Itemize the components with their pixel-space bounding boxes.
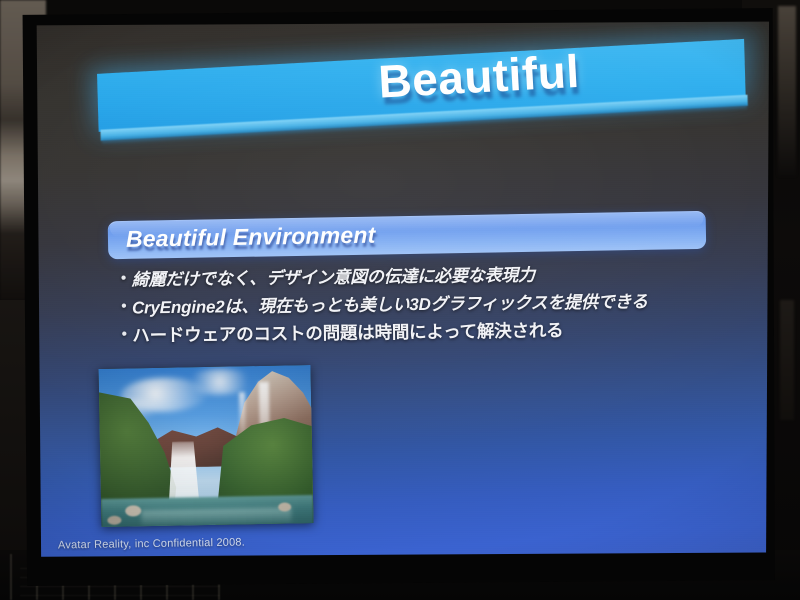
projection-room-scene: Beautiful Beautiful Environment • 綺麗だけでな… — [0, 0, 800, 600]
wall-right-highlight-lower — [780, 300, 794, 420]
presentation-slide: Beautiful Beautiful Environment • 綺麗だけでな… — [30, 20, 772, 560]
bullet-list: • 綺麗だけでなく、デザイン意図の伝達に必要な表現力 • CryEngine2は… — [116, 260, 717, 353]
bullet-text: ハードウェアのコストの問題は時間によって解決される — [132, 317, 716, 350]
bullet-text: 綺麗だけでなく、デザイン意図の伝達に必要な表現力 — [132, 260, 716, 292]
slide-title-block: Beautiful — [95, 20, 760, 174]
game-screenshot-image — [99, 365, 314, 527]
slide-footer: Avatar Reality, inc Confidential 2008. — [58, 537, 245, 552]
list-item: • ハードウェアのコストの問題は時間によって解決される — [116, 317, 716, 350]
bullet-icon: • — [116, 324, 132, 346]
section-banner-label: Beautiful Environment — [126, 222, 376, 253]
section-banner: Beautiful Environment — [108, 211, 709, 265]
list-item: • CryEngine2は、現在もっとも美しい3Dグラフィックスを提供できる — [116, 288, 716, 320]
bullet-icon: • — [116, 267, 132, 289]
photo-shading — [99, 365, 314, 527]
list-item: • 綺麗だけでなく、デザイン意図の伝達に必要な表現力 — [116, 260, 716, 292]
bullet-icon: • — [116, 296, 132, 318]
bullet-text: CryEngine2は、現在もっとも美しい3Dグラフィックスを提供できる — [132, 288, 716, 320]
wall-right-highlight — [778, 6, 796, 176]
